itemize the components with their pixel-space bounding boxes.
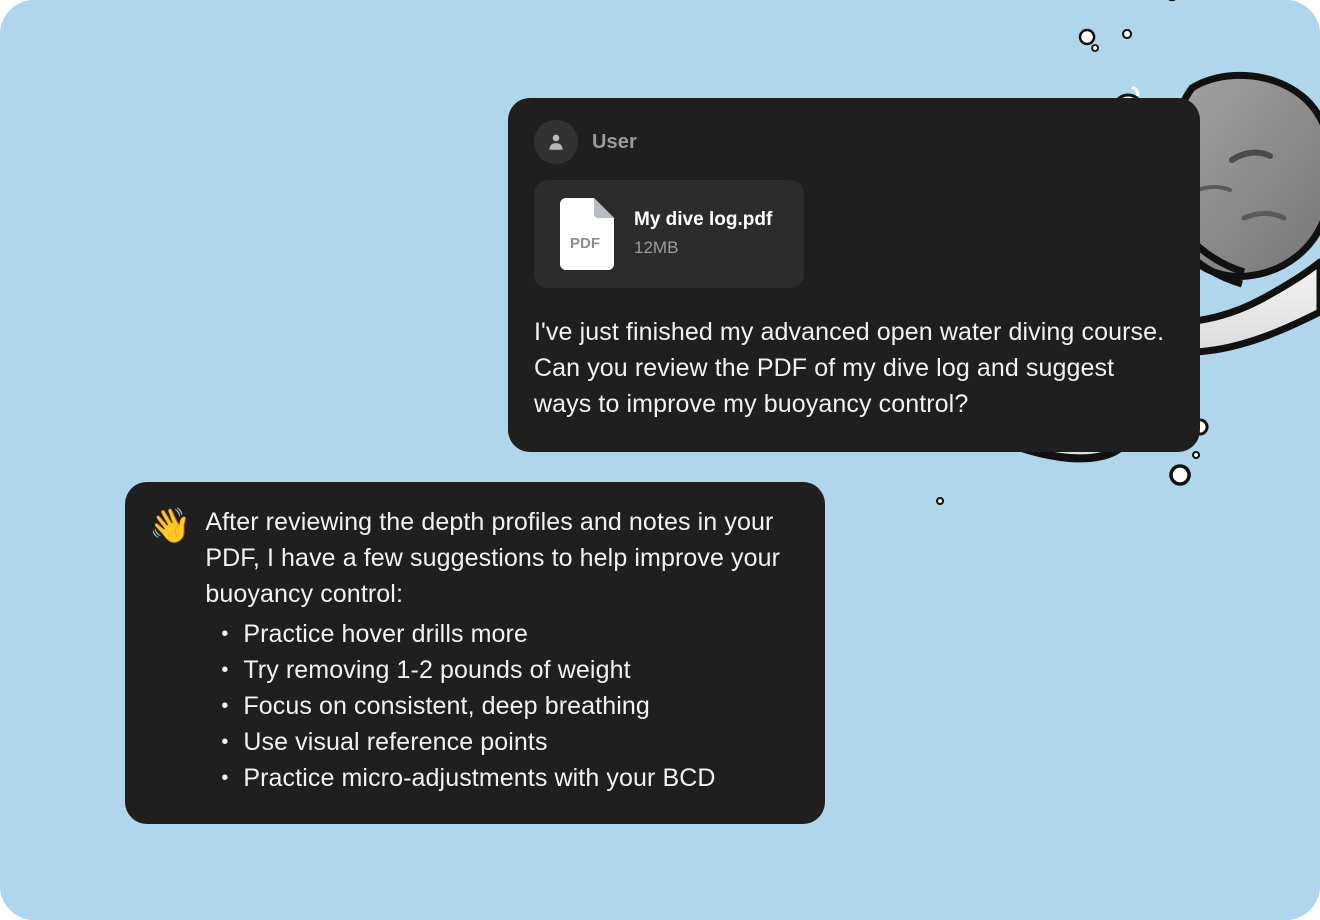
assistant-intro-text: After reviewing the depth profiles and n… [205, 504, 797, 612]
attachment-file-size: 12MB [634, 236, 772, 260]
pdf-file-icon: PDF [556, 198, 614, 270]
user-role-label: User [592, 131, 637, 154]
suggestion-item: Focus on consistent, deep breathing [243, 688, 797, 724]
attachment-file-name: My dive log.pdf [634, 209, 772, 230]
user-message-bubble: User PDF My dive log.pdf 12MB I've just … [508, 98, 1200, 452]
user-message-text: I've just finished my advanced open wate… [534, 314, 1174, 422]
pdf-icon-label: PDF [570, 235, 600, 252]
suggestion-item: Practice micro-adjustments with your BCD [243, 760, 797, 796]
suggestion-item: Try removing 1-2 pounds of weight [243, 652, 797, 688]
attachment-meta: My dive log.pdf 12MB [634, 208, 772, 259]
pdf-attachment-card[interactable]: PDF My dive log.pdf 12MB [534, 180, 804, 288]
app-canvas: User PDF My dive log.pdf 12MB I've just … [0, 0, 1320, 920]
waving-hand-emoji: 👋 [149, 506, 191, 546]
suggestion-item: Use visual reference points [243, 724, 797, 760]
suggestion-list: Practice hover drills moreTry removing 1… [205, 616, 797, 796]
assistant-message-bubble: 👋 After reviewing the depth profiles and… [125, 482, 825, 824]
user-message-header: User [534, 120, 1174, 164]
suggestion-item: Practice hover drills more [243, 616, 797, 652]
user-avatar-icon [534, 120, 578, 164]
assistant-message-body: After reviewing the depth profiles and n… [205, 504, 797, 796]
